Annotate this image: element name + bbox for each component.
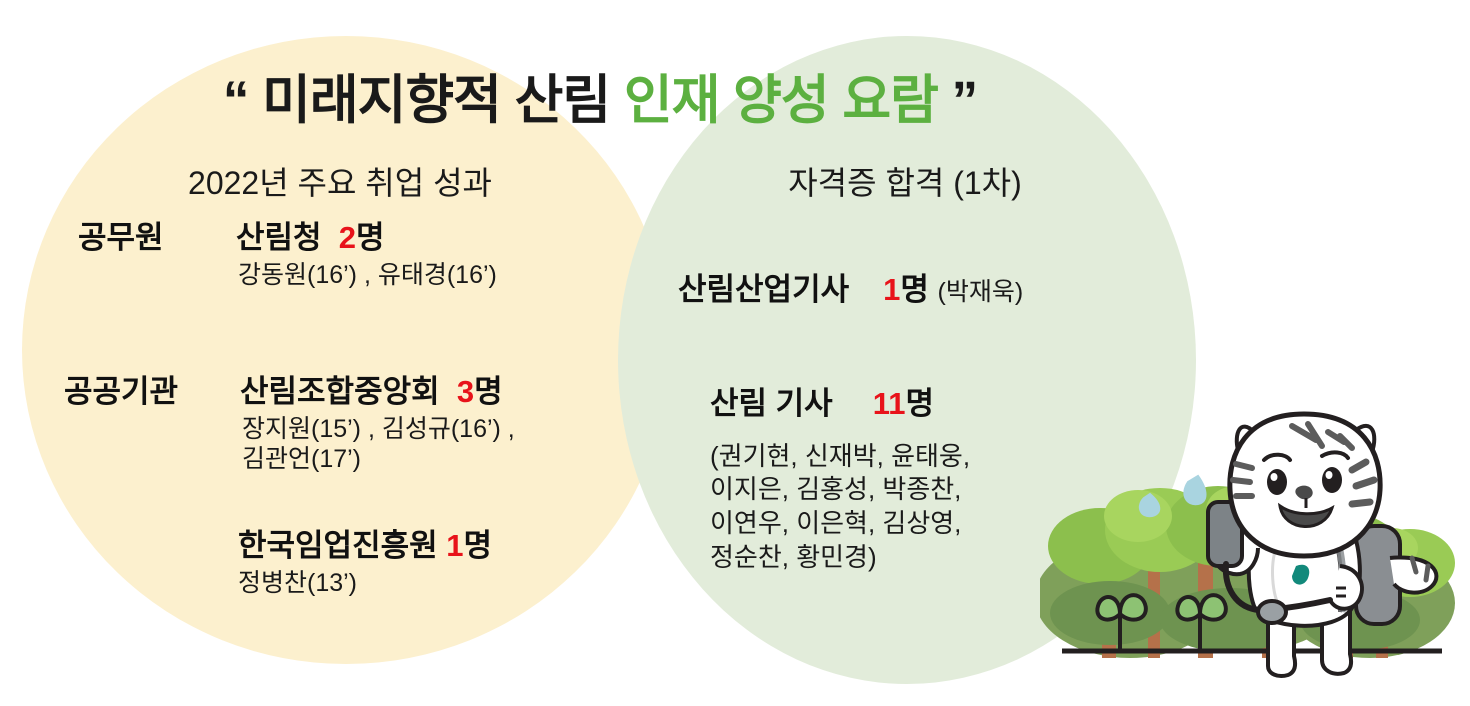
- certificate-name: 산림산업기사: [678, 272, 849, 307]
- entry-main-row: 한국임업진흥원 1명: [238, 528, 492, 564]
- entry-public-institution: 공공기관산림조합중앙회 3명 장지원(15’) , 김성규(16’) , 김관언…: [64, 374, 515, 475]
- entry-main-row: 산림산업기사1명 (박재욱): [678, 272, 1023, 308]
- title-green-text: 인재 양성 요람: [624, 71, 938, 130]
- entry-main-row: 산림 기사11명: [710, 386, 970, 422]
- entry-name-list: 정병찬(13’): [238, 568, 492, 599]
- entry-name-list-inline: (박재욱): [938, 278, 1024, 306]
- right-circle-heading: 자격증 합격 (1차): [705, 158, 1105, 204]
- entry-name-list: 강동원(16’) , 유태경(16’): [238, 260, 497, 291]
- entry-organization: 산림청: [236, 220, 322, 256]
- title-close-quote: ”: [938, 71, 977, 130]
- entry-count-unit: 명: [356, 220, 385, 255]
- entry-name-list: (권기현, 신재박, 윤태웅, 이지은, 김홍성, 박종찬, 이연우, 이은혁,…: [710, 440, 970, 575]
- white-tiger-mascot-illustration: [1040, 398, 1470, 698]
- entry-forest-industrial-engineer: 산림산업기사1명 (박재욱): [678, 272, 1023, 308]
- entry-forestry-promotion-institute: 한국임업진흥원 1명 정병찬(13’): [238, 528, 492, 598]
- entry-forest-engineer: 산림 기사11명 (권기현, 신재박, 윤태웅, 이지은, 김홍성, 박종찬, …: [710, 386, 970, 575]
- left-circle-heading: 2022년 주요 취업 성과: [140, 158, 540, 204]
- title-black-text: 미래지향적 산림: [248, 71, 624, 130]
- entry-count: 11: [873, 386, 906, 421]
- entry-count-unit: 명: [474, 374, 503, 409]
- tiger-tail: [1390, 557, 1436, 592]
- entry-count: 2: [339, 220, 356, 255]
- infographic-canvas: “ 미래지향적 산림 인재 양성 요람 ” 2022년 주요 취업 성과 자격증…: [0, 0, 1470, 706]
- title-open-quote: “: [223, 71, 249, 130]
- tiger-head: [1230, 414, 1380, 556]
- entry-count-unit: 명: [900, 272, 929, 307]
- entry-organization: 한국임업진흥원: [238, 528, 438, 564]
- entry-count-unit: 명: [905, 386, 934, 421]
- entry-main-row: 공공기관산림조합중앙회 3명: [64, 374, 515, 410]
- entry-organization: 산림조합중앙회: [240, 374, 440, 410]
- entry-public-servant: 공무원산림청 2명 강동원(16’) , 유태경(16’): [78, 220, 497, 290]
- entry-category: 공무원: [78, 220, 236, 256]
- page-title: “ 미래지향적 산림 인재 양성 요람 ”: [0, 58, 1200, 134]
- entry-name-list: 장지원(15’) , 김성규(16’) , 김관언(17’): [242, 414, 515, 475]
- entry-count: 1: [883, 272, 900, 307]
- entry-category: 공공기관: [64, 374, 240, 410]
- certificate-name: 산림 기사: [710, 386, 833, 421]
- entry-count-unit: 명: [464, 528, 493, 563]
- entry-count: 3: [457, 374, 474, 409]
- entry-count: 1: [446, 528, 463, 563]
- entry-main-row: 공무원산림청 2명: [78, 220, 497, 256]
